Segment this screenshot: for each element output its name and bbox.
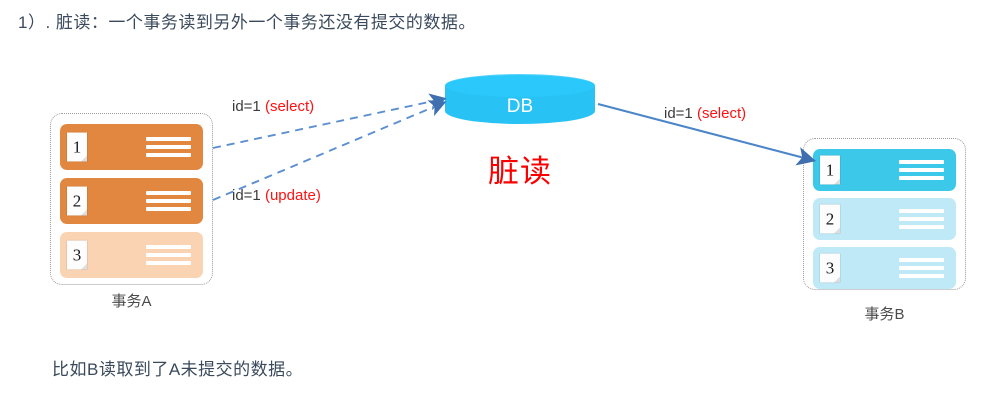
row-number-badge: 2 (67, 187, 87, 216)
table-row[interactable]: 1 (60, 124, 203, 170)
arrow-label-operation: (select) (265, 98, 314, 115)
table-row[interactable]: 1 (813, 149, 956, 191)
arrow-label-operation: (update) (265, 187, 321, 204)
row-number-badge: 1 (67, 133, 87, 162)
row-lines-icon (899, 160, 944, 180)
transaction-a-label: 事务A (50, 290, 213, 311)
database-label: DB (445, 96, 595, 118)
arrow-label-select-left: id=1 (select) (232, 98, 314, 115)
page-title: 1）. 脏读：一个事务读到另外一个事务还没有提交的数据。 (18, 8, 476, 33)
row-lines-icon (146, 137, 191, 157)
transaction-b-label: 事务B (803, 303, 966, 324)
arrow-label-prefix: id=1 (232, 187, 265, 204)
row-lines-icon (899, 209, 944, 229)
row-number-badge: 3 (820, 254, 840, 283)
table-row[interactable]: 2 (60, 178, 203, 224)
arrow-label-update-left: id=1 (update) (232, 187, 321, 204)
database-cylinder-icon: DB (445, 74, 595, 124)
row-number-badge: 2 (820, 205, 840, 234)
row-number-badge: 3 (67, 241, 87, 270)
transaction-b-panel: 1 2 3 (803, 138, 966, 290)
row-lines-icon (899, 258, 944, 278)
table-row[interactable]: 2 (813, 198, 956, 240)
table-row[interactable]: 3 (813, 247, 956, 289)
dirty-read-title: 脏读 (445, 146, 595, 191)
arrow-label-select-right: id=1 (select) (664, 105, 746, 122)
row-number-badge: 1 (820, 156, 840, 185)
row-lines-icon (146, 245, 191, 265)
arrow-label-operation: (select) (697, 105, 746, 122)
transaction-a-rows: 1 2 3 (60, 124, 203, 278)
arrow-update-left (213, 103, 443, 200)
database-top-ellipse (445, 74, 595, 97)
arrow-label-prefix: id=1 (232, 98, 265, 115)
row-lines-icon (146, 191, 191, 211)
page-caption: 比如B读取到了A未提交的数据。 (52, 355, 303, 380)
arrow-label-prefix: id=1 (664, 105, 697, 122)
table-row[interactable]: 3 (60, 232, 203, 278)
transaction-b-rows: 1 2 3 (813, 149, 956, 289)
transaction-a-panel: 1 2 3 (50, 113, 213, 285)
